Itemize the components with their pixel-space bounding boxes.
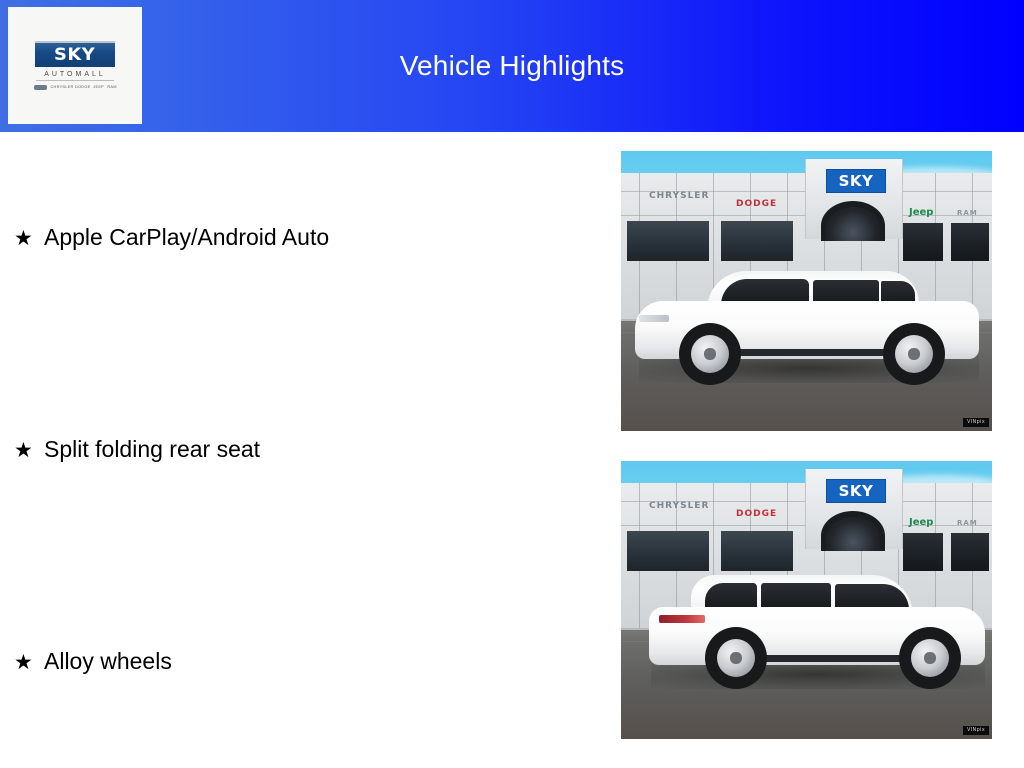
service-bay-door: [951, 223, 989, 261]
sign-chrysler: CHRYSLER: [649, 191, 709, 201]
front-wheel: [679, 323, 741, 385]
sign-jeep: Jeep: [909, 207, 933, 218]
storefront-window: [721, 221, 793, 261]
list-item: ★ Split folding rear seat: [14, 438, 260, 461]
service-bay-door: [951, 533, 989, 571]
storefront-window: [721, 531, 793, 571]
star-bullet-icon: ★: [14, 440, 44, 461]
entrance-arch-glass: [826, 207, 880, 241]
service-bay-door: [903, 223, 943, 261]
sign-dodge: DODGE: [736, 509, 777, 519]
dealership-scene: SKY CHRYSLER DODGE Jeep RAM: [621, 151, 992, 431]
highlight-label: Alloy wheels: [44, 650, 172, 673]
taillight: [659, 615, 705, 623]
sign-ram: RAM: [957, 209, 978, 217]
page-title: Vehicle Highlights: [0, 0, 1024, 132]
rear-wheel: [883, 323, 945, 385]
sign-sky: SKY: [826, 479, 886, 503]
dealership-scene: SKY CHRYSLER DODGE Jeep RAM: [621, 461, 992, 739]
vehicle-photo-front: SKY CHRYSLER DODGE Jeep RAM VINpix: [621, 151, 992, 431]
storefront-window: [627, 531, 709, 571]
slide-header: SKY AUTOMALL CHRYSLER DODGE JEEP RAM Veh…: [0, 0, 1024, 132]
front-wheel: [899, 627, 961, 689]
entrance-arch-glass: [826, 517, 880, 551]
highlight-label: Apple CarPlay/Android Auto: [44, 226, 329, 249]
sign-jeep: Jeep: [909, 517, 933, 528]
highlights-list: ★ Apple CarPlay/Android Auto ★ Split fol…: [0, 132, 600, 768]
list-item: ★ Apple CarPlay/Android Auto: [14, 226, 329, 249]
star-bullet-icon: ★: [14, 228, 44, 249]
sign-dodge: DODGE: [736, 199, 777, 209]
service-bay-door: [903, 533, 943, 571]
photo-watermark: VINpix: [963, 418, 989, 427]
star-bullet-icon: ★: [14, 652, 44, 673]
rear-wheel: [705, 627, 767, 689]
headlight: [639, 315, 669, 322]
sign-ram: RAM: [957, 519, 978, 527]
vehicle-front-view: [629, 271, 985, 381]
highlight-label: Split folding rear seat: [44, 438, 260, 461]
photo-watermark: VINpix: [963, 726, 989, 735]
list-item: ★ Alloy wheels: [14, 650, 172, 673]
storefront-window: [627, 221, 709, 261]
vehicle-rear-view: [643, 575, 991, 687]
sign-sky: SKY: [826, 169, 886, 193]
sign-chrysler: CHRYSLER: [649, 501, 709, 511]
vehicle-photo-rear: SKY CHRYSLER DODGE Jeep RAM VINpix: [621, 461, 992, 739]
